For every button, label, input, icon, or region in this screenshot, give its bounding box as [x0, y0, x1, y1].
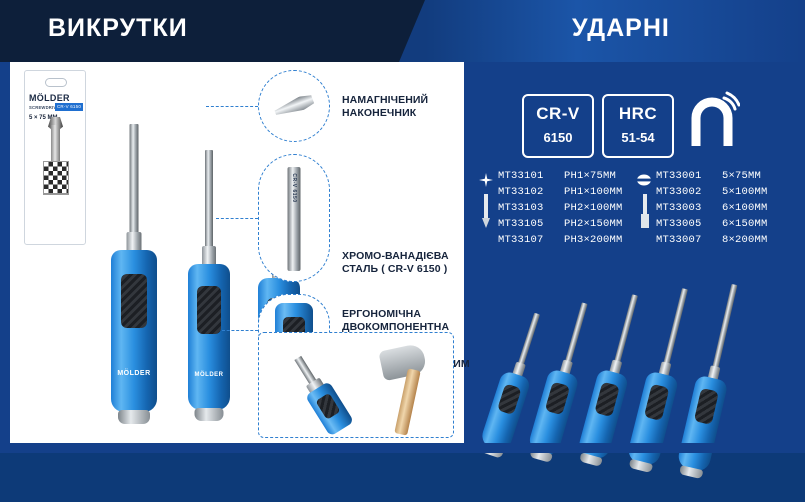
code-row: MT33107PH3×200MM — [498, 232, 623, 248]
callout-box-steel: CR-V 6150 — [258, 154, 330, 282]
code-row: MT33102PH1×100MM — [498, 184, 623, 200]
handle-logo: MÖLDER — [195, 372, 224, 378]
callout-leader-2 — [216, 218, 258, 219]
screwdriver-sl-medium: MÖLDER — [178, 150, 240, 420]
spec-crv-line2: 6150 — [524, 130, 592, 145]
packaged-bit-photo: MÖLDER SCREWDRIVER BIT CR-V 6150 5 × 75 … — [24, 70, 86, 370]
screwdriver-blade — [614, 294, 638, 365]
code-number: MT33005 — [656, 216, 722, 232]
code-size: PH2×100MM — [564, 202, 623, 214]
code-row: MT33101PH1×75MM — [498, 168, 623, 184]
code-number: MT33101 — [498, 168, 564, 184]
spec-hrc-line2: 51-54 — [604, 130, 672, 145]
ph-bit-icon — [479, 194, 493, 233]
screwdriver-grip — [197, 286, 221, 334]
hang-hole — [45, 78, 67, 87]
code-number: MT33103 — [498, 200, 564, 216]
code-number: MT33007 — [656, 232, 722, 248]
code-number: MT33102 — [498, 184, 564, 200]
callout-label-magnetized-tip: НАМАГНІЧЕНИЙ НАКОНЕЧНИК — [342, 94, 472, 119]
magnet-icon — [684, 90, 740, 152]
codes-list-ph: MT33101PH1×75MM MT33102PH1×100MM MT33103… — [498, 168, 623, 248]
code-size: PH1×75MM — [564, 170, 616, 182]
code-number: MT33001 — [656, 168, 722, 184]
code-size: PH2×150MM — [564, 218, 623, 230]
code-size: 8×200MM — [722, 234, 768, 246]
codes-list-sl: MT330015×75MM MT330025×100MM MT330036×10… — [656, 168, 768, 248]
screwdriver-ph-large: MÖLDER — [100, 124, 168, 424]
sl-tip-icon — [636, 172, 652, 193]
left-content-panel: MÖLDER SCREWDRIVER BIT CR-V 6150 5 × 75 … — [10, 62, 464, 443]
page-title-left: ВИКРУТКИ — [48, 14, 188, 43]
impact-screwdriver-illustration — [260, 336, 371, 443]
code-size: 5×75MM — [722, 170, 761, 182]
card-brand-label: MÖLDER — [29, 93, 70, 103]
code-number: MT33003 — [656, 200, 722, 216]
screwdriver-set-photo — [470, 292, 795, 502]
right-content-panel: CR-V 6150 HRC 51-54 MT33101PH1×75MM MT33… — [470, 62, 795, 443]
spec-badge-hrc: HRC 51-54 — [602, 94, 674, 158]
screwdriver-blade — [663, 288, 688, 367]
bottom-strip — [0, 443, 805, 453]
screwdriver-grip — [121, 274, 147, 328]
card-checker-pattern — [43, 161, 69, 195]
spec-hrc-line1: HRC — [604, 104, 672, 124]
poster-frame: ВИКРУТКИ УДАРНІ MÖLDER SCREWDRIVER BIT C… — [0, 0, 805, 453]
screwdriver-blade — [712, 284, 738, 371]
code-row: MT33103PH2×100MM — [498, 200, 623, 216]
screwdriver-metal-cap — [195, 408, 224, 421]
page-title-right: УДАРНІ — [572, 14, 670, 43]
ph-tip-icon — [478, 172, 494, 193]
slotted-tip-closeup — [273, 93, 315, 120]
code-row: MT330078×200MM — [656, 232, 768, 248]
blister-card: MÖLDER SCREWDRIVER BIT CR-V 6150 5 × 75 … — [24, 70, 86, 245]
callout-box-impact-use — [258, 332, 454, 438]
code-row: MT33105PH2×150MM — [498, 216, 623, 232]
screwdriver-blade — [564, 302, 587, 365]
code-number: MT33002 — [656, 184, 722, 200]
code-row: MT330015×75MM — [656, 168, 768, 184]
code-row: MT330056×150MM — [656, 216, 768, 232]
callout-leader-1 — [206, 106, 258, 107]
code-size: PH3×200MM — [564, 234, 623, 246]
callout-box-tip — [258, 70, 330, 142]
screwdriver-blade — [205, 150, 213, 250]
code-row: MT330025×100MM — [656, 184, 768, 200]
code-number: MT33105 — [498, 216, 564, 232]
sl-bit-icon — [638, 194, 652, 235]
screwdriver-blade — [130, 124, 139, 236]
code-number: MT33107 — [498, 232, 564, 248]
shaft-marking: CR-V 6150 — [291, 173, 297, 202]
handle-logo: MÖLDER — [117, 370, 150, 377]
screwdriver-metal-cap — [118, 410, 150, 424]
code-size: PH1×100MM — [564, 186, 623, 198]
card-crv-badge: CR-V 6150 — [55, 103, 83, 111]
code-row: MT330036×100MM — [656, 200, 768, 216]
spec-badge-crv: CR-V 6150 — [522, 94, 594, 158]
code-size: 6×100MM — [722, 202, 768, 214]
screwdriver-blade — [517, 313, 540, 368]
callout-label-crv-steel: ХРОМО-ВАНАДІЄВА СТАЛЬ ( CR-V 6150 ) — [342, 250, 476, 275]
spec-crv-line1: CR-V — [524, 104, 592, 124]
hammer-illustration — [363, 345, 447, 433]
code-size: 6×150MM — [722, 218, 768, 230]
code-size: 5×100MM — [722, 186, 768, 198]
header-bar: ВИКРУТКИ УДАРНІ — [0, 0, 805, 62]
callout-leader-3 — [222, 330, 258, 331]
bit-shaft — [51, 125, 60, 165]
